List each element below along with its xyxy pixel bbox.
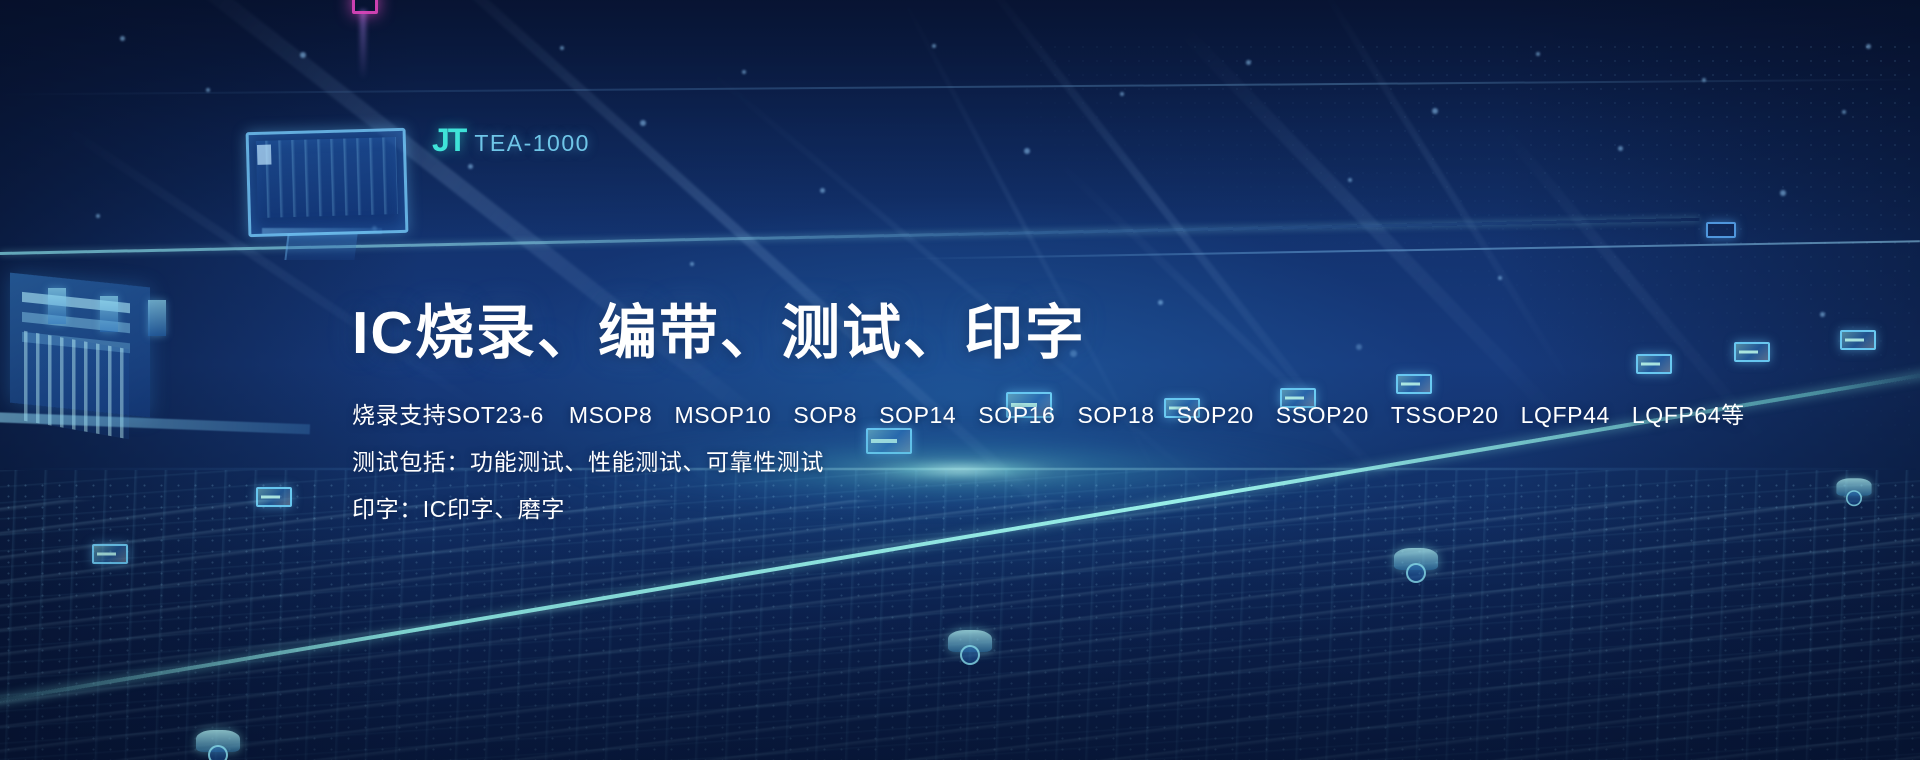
packages-lead-label: 烧录支持SOT23-6 [352,404,544,427]
packages-line: 烧录支持SOT23-6 MSOP8MSOP10SOP8SOP14SOP16SOP… [352,404,1602,427]
hero-banner: JT TEA-1000 IC烧录、编带、测试、印字 烧录支持SOT23-6 MS… [0,0,1920,760]
logo-mark: JT [432,122,465,159]
package-name: SSOP20 [1276,404,1369,427]
package-name: SOP14 [879,404,956,427]
package-name: SOP20 [1177,404,1254,427]
cart-icon [1836,478,1871,496]
cart-icon [1394,548,1438,570]
page-title: IC烧录、编带、测试、印字 [352,300,1602,368]
package-name: SOP16 [978,404,1055,427]
cart-icon [948,630,992,652]
package-name: MSOP10 [674,404,771,427]
machine-nozzle [148,300,166,336]
accent-light-beam [360,10,366,80]
package-name: SOP18 [1077,404,1154,427]
subtitle-list: 烧录支持SOT23-6 MSOP8MSOP10SOP8SOP14SOP16SOP… [352,404,1602,521]
chip-panel-icon [1840,330,1876,350]
chip-panel-icon [1636,354,1672,374]
blue-accent-icon-right [1706,222,1736,238]
package-name-list: MSOP8MSOP10SOP8SOP14SOP16SOP18SOP20SSOP2… [569,402,1745,428]
monitor-display [246,128,409,237]
package-name: MSOP8 [569,404,653,427]
machine-nozzle [100,296,118,332]
banner-content: IC烧录、编带、测试、印字 烧录支持SOT23-6 MSOP8MSOP10SOP… [352,300,1602,545]
monitor-stand [284,234,357,260]
logo-model-text: TEA-1000 [474,130,590,157]
machine-nozzle [48,288,66,324]
package-name: LQFP44 [1521,404,1610,427]
package-name: SOP8 [793,404,857,427]
marking-line: 印字：IC印字、磨字 [352,498,1602,521]
package-name: TSSOP20 [1391,404,1499,427]
equipment-logo: JT TEA-1000 [432,122,590,159]
testing-line: 测试包括：功能测试、性能测试、可靠性测试 [352,451,1602,474]
monitor-screen [256,137,398,218]
chip-panel-icon [1734,342,1770,362]
package-name: LQFP64等 [1632,404,1745,427]
monitor-screen-indicator [257,145,272,165]
cart-icon [196,730,240,752]
magenta-accent-icon [352,0,378,14]
